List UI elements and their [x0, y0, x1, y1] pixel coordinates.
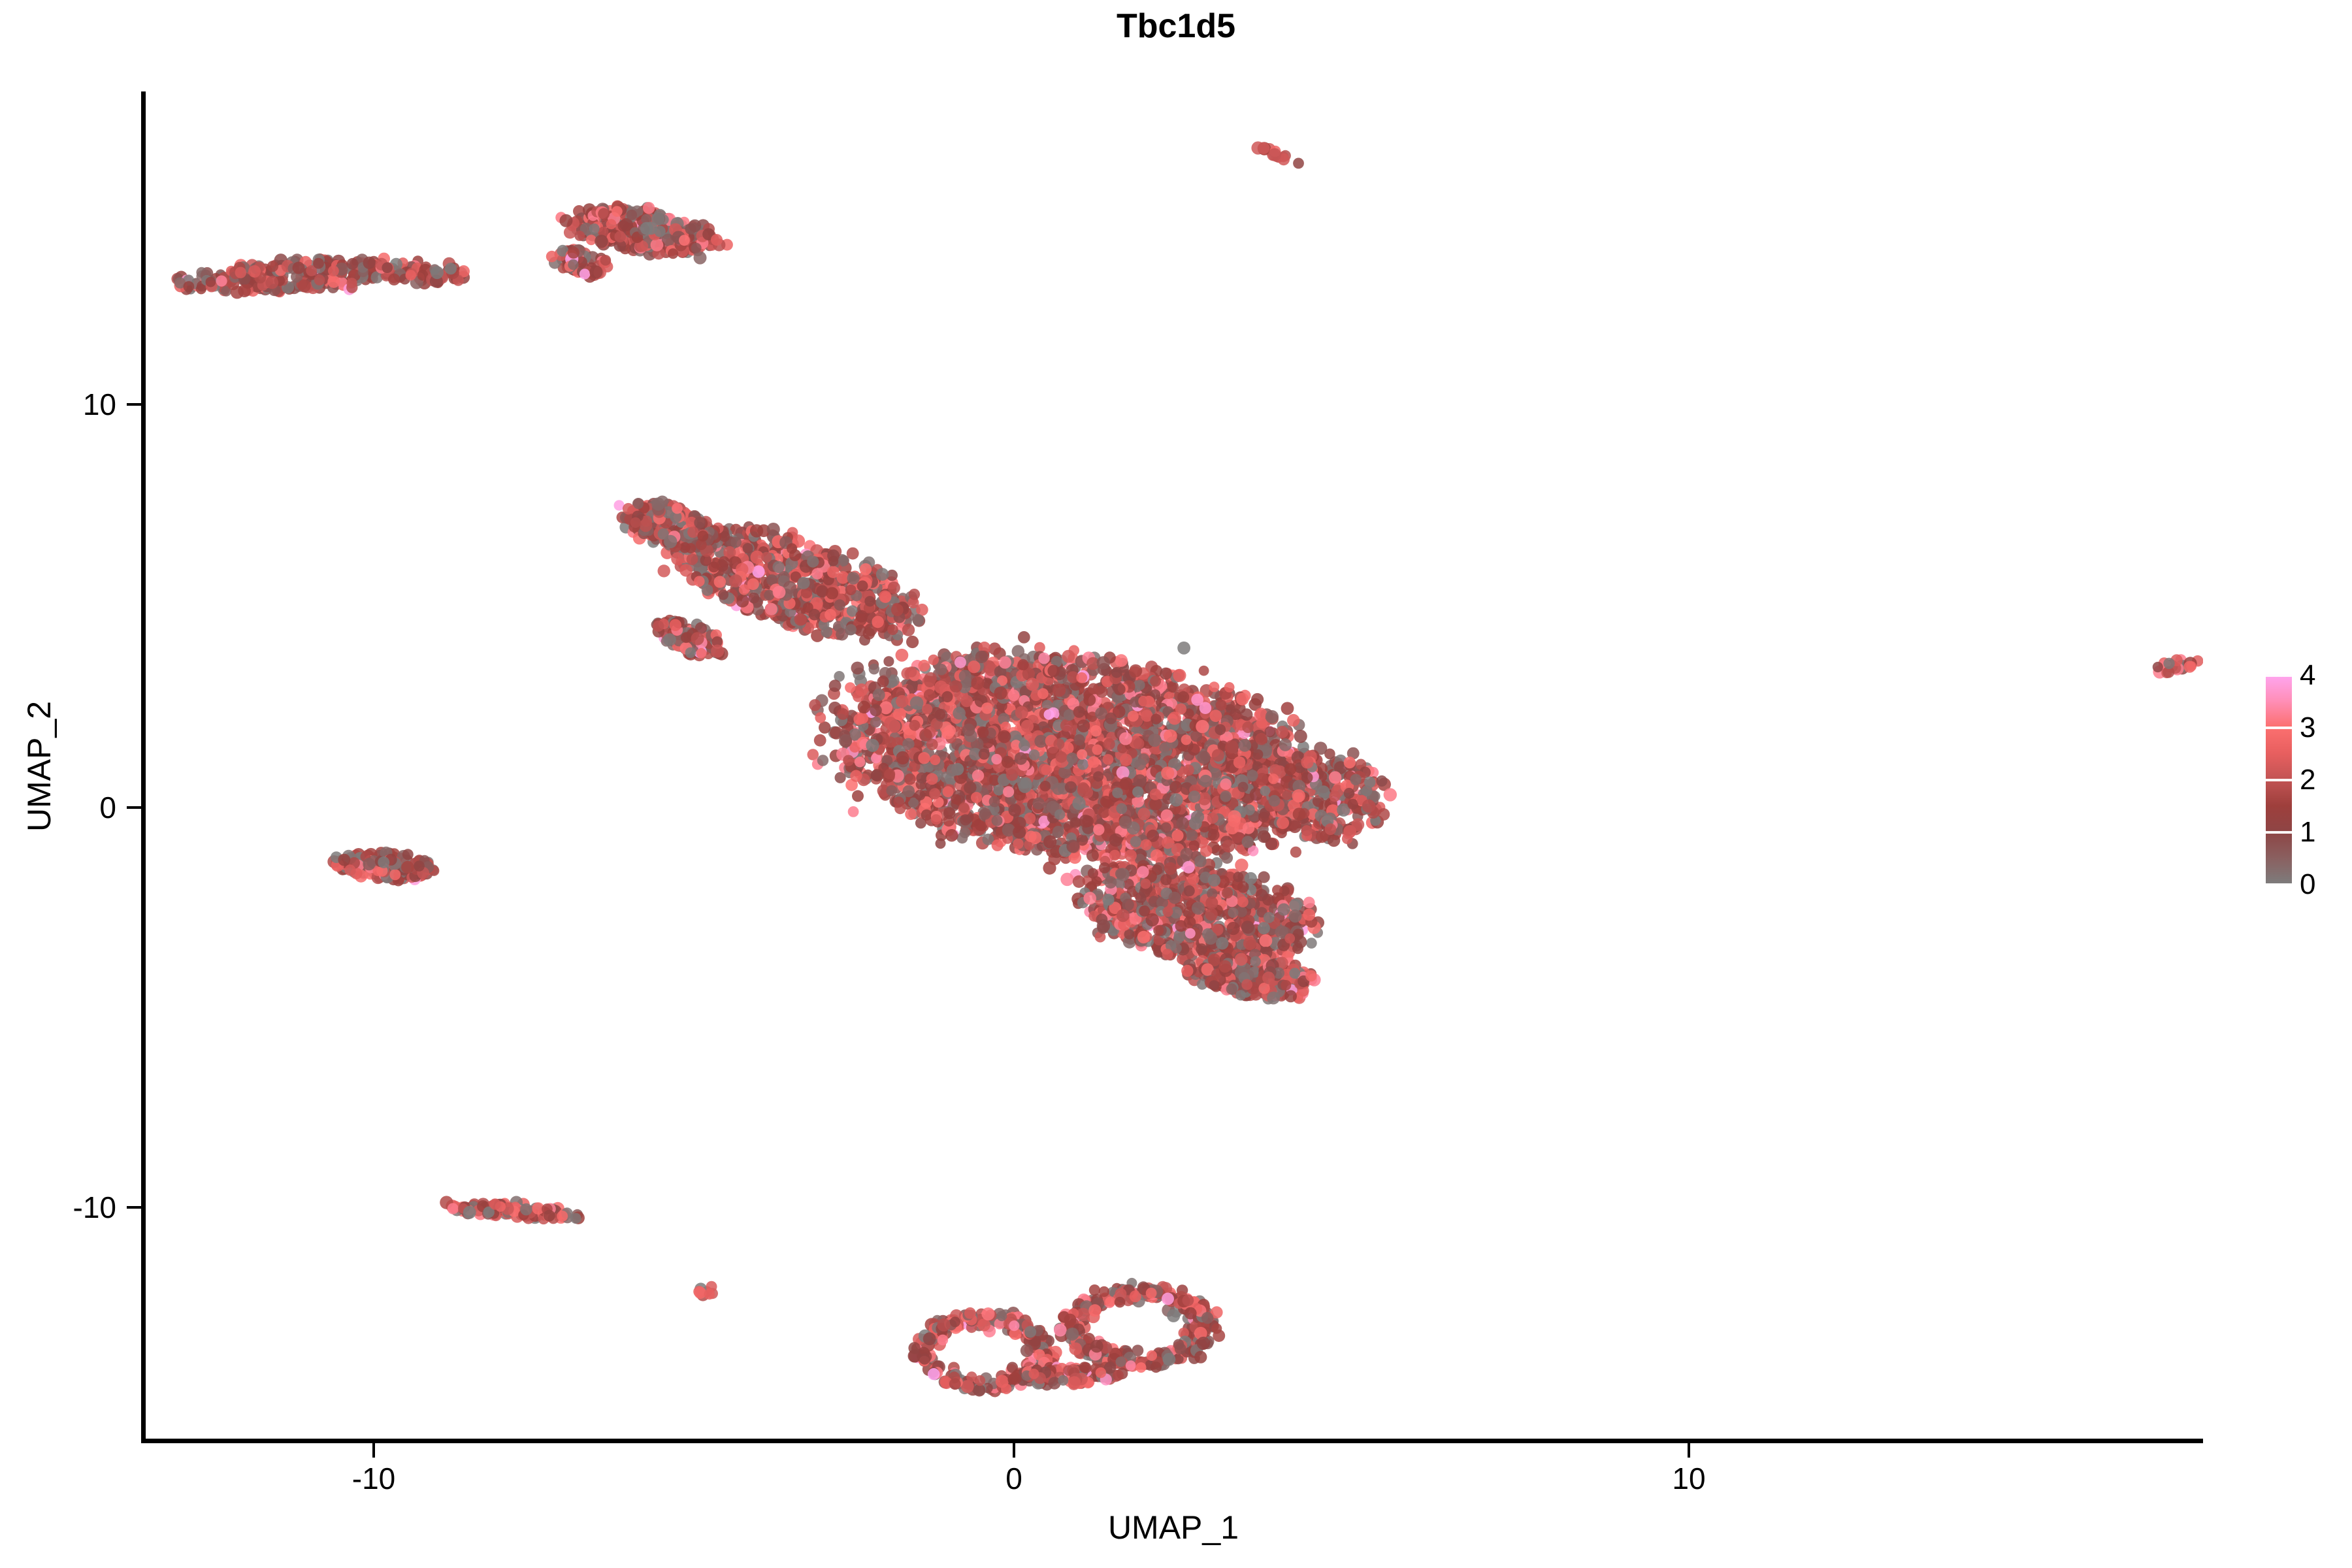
- colorbar-label-4: 4: [2300, 661, 2345, 690]
- scatter-points-layer: [144, 91, 2203, 1441]
- colorbar-legend: 4 3 2 1 0: [2254, 660, 2345, 908]
- x-axis-title: UMAP_1: [144, 1509, 2203, 1546]
- plot-panel: [144, 91, 2203, 1441]
- x-tick-mark-neg10: [372, 1443, 375, 1458]
- colorbar-tick-2: [2266, 779, 2292, 781]
- y-tick-mark-neg10: [127, 1206, 141, 1209]
- x-tick-label-10: 10: [1624, 1463, 1754, 1494]
- x-axis-line: [141, 1439, 2203, 1443]
- x-tick-mark-10: [1688, 1443, 1690, 1458]
- y-tick-mark-0: [127, 806, 141, 809]
- x-tick-label-0: 0: [949, 1463, 1079, 1494]
- x-tick-label-neg10: -10: [308, 1463, 439, 1494]
- colorbar-tick-4: [2266, 674, 2292, 677]
- colorbar-label-2: 2: [2300, 766, 2345, 794]
- page-title: Tbc1d5: [0, 5, 2352, 47]
- y-tick-label-neg10: -10: [5, 1192, 116, 1222]
- x-tick-mark-0: [1013, 1443, 1015, 1458]
- colorbar-tick-1: [2266, 831, 2292, 834]
- umap-feature-plot: Tbc1d5 10 0 -10 -10 0 10 UMAP_1 UMAP_2 4…: [0, 0, 2352, 1568]
- y-axis-title: UMAP_2: [21, 505, 57, 1028]
- y-tick-label-10: 10: [5, 389, 116, 419]
- y-axis-line: [141, 91, 146, 1443]
- colorbar-label-1: 1: [2300, 818, 2345, 847]
- colorbar-label-0: 0: [2300, 870, 2345, 899]
- colorbar-tick-3: [2266, 727, 2292, 729]
- colorbar-tick-0: [2266, 883, 2292, 886]
- colorbar-label-3: 3: [2300, 713, 2345, 742]
- y-tick-mark-10: [127, 403, 141, 406]
